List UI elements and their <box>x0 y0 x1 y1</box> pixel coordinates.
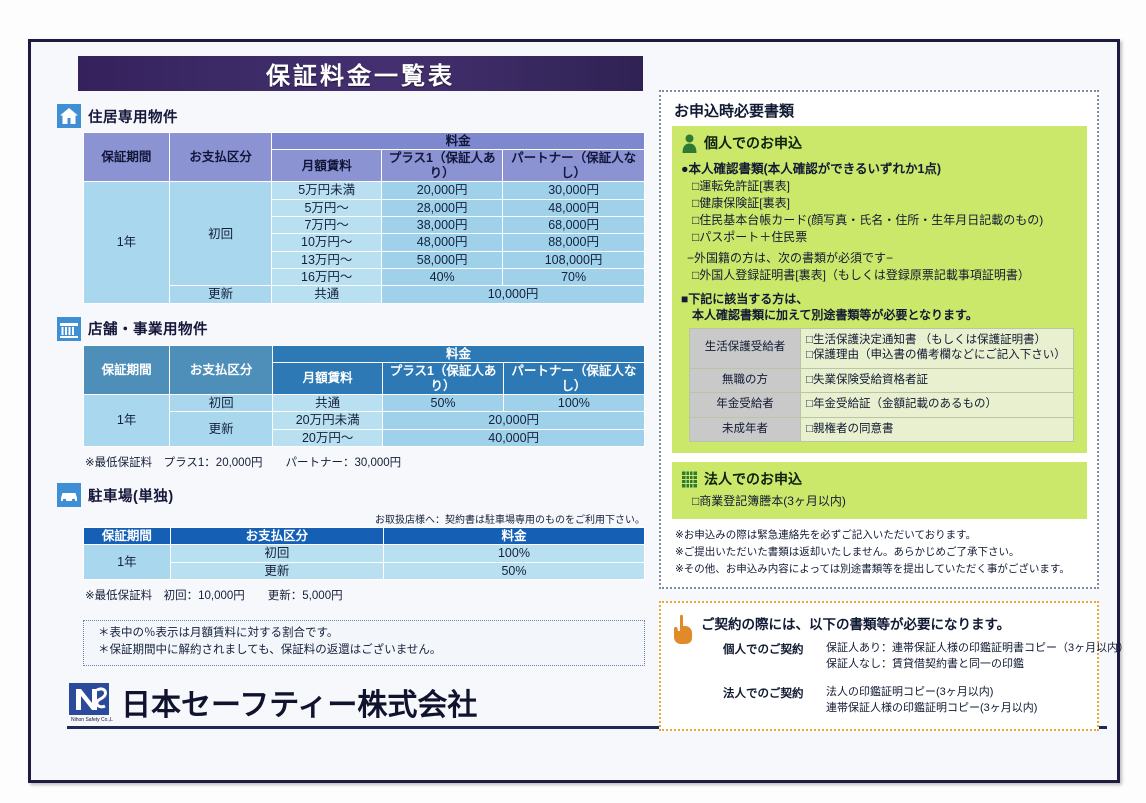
contract-documents-box: ご契約の際には、以下の書類等が必要になります。 個人でのご契約 保証人あり：連帯… <box>659 601 1099 732</box>
extra-documents-heading: ■下記に該当する方は、 本人確認書類に加えて別途書類等が必要となります。 <box>681 292 1078 323</box>
left-footnotes-box: ＊表中の％表示は月額賃料に対する割合です。 ＊保証期間中に解約されましても、保証… <box>83 620 645 666</box>
extra-heading-line2: 本人確認書類に加えて別途書類等が必要となります。 <box>692 308 1078 324</box>
check-alien-registration: □外国人登録証明書[裏表]（もしくは登録原票記載事項証明書） <box>692 268 1078 284</box>
company-logo: Nihon Safety Co.,Ltd 日本セーフティー株式会社 <box>67 680 645 724</box>
check-item: □保護理由（申込書の備考欄などにご記入下さい） <box>806 348 1068 364</box>
th-payment-type: お支払区分 <box>170 345 273 394</box>
right-column: お申込時必要書類 個人でのお申込 ●本人確認書類(本人確認ができるいずれか1点)… <box>659 90 1099 731</box>
cell-period-value: 1年 <box>84 182 170 304</box>
cell-items: □生活保護決定通知書 （もしくは保護証明書） □保護理由（申込書の備考欄などにご… <box>801 328 1074 368</box>
check-item: □親権者の同意書 <box>806 422 1068 438</box>
table-commercial: 保証期間 お支払区分 料金 月額賃料 プラス1（保証人あり） パートナー（保証人… <box>83 345 645 447</box>
cell-fee: 100% <box>383 545 644 562</box>
cell-items: □失業保険受給資格者証 <box>801 368 1074 393</box>
note-additional-docs: ※その他、お申込み内容によっては別途書類等を提出していただく事がございます。 <box>675 561 1087 578</box>
th-monthly-rent: 月額賃料 <box>273 363 383 395</box>
contract-value: 保証人あり：連帯保証人様の印鑑証明書コピー（3ヶ月以内） <box>826 641 1129 657</box>
house-icon <box>57 104 81 128</box>
page-title: 保証料金一覧表 <box>78 56 643 91</box>
section-title-parking: 駐車場(単独) <box>88 485 174 506</box>
cell-rent: 16万円～ <box>272 269 382 286</box>
contract-values: 法人の印鑑証明コピー(3ヶ月以内) 連帯保証人様の印鑑証明コピー(3ヶ月以内) <box>826 685 1037 717</box>
corporate-heading: 法人でのお申込 <box>704 469 802 489</box>
footnote-percent: ＊表中の％表示は月額賃料に対する割合です。 <box>98 625 638 642</box>
cell-first-time-label: 初回 <box>170 394 273 411</box>
cell-plus1: 50% <box>383 394 503 411</box>
cell-category: 未成年者 <box>690 417 801 442</box>
grid-building-icon <box>681 470 698 489</box>
table-residential: 保証期間 お支払区分 料金 月額賃料 プラス1（保証人あり） パートナー（保証人… <box>83 132 645 304</box>
cell-renewal-label: 更新 <box>169 286 271 303</box>
check-item: □年金受給証（金額記載のあるもの） <box>806 397 1068 413</box>
cell-partner: 68,000円 <box>503 216 645 233</box>
table-row: 保証期間 お支払区分 料金 <box>84 345 645 362</box>
th-plus1: プラス1（保証人あり） <box>383 363 503 395</box>
individual-application-panel: 個人でのお申込 ●本人確認書類(本人確認ができるいずれか1点) □運転免許証[裏… <box>672 126 1087 453</box>
cell-partner: 88,000円 <box>503 234 645 251</box>
cell-category: 年金受給者 <box>690 393 801 418</box>
cell-fee: 50% <box>383 562 644 579</box>
th-period: 保証期間 <box>84 528 171 545</box>
check-drivers-license: □運転免許証[裏表] <box>692 179 1078 195</box>
cell-partner: 70% <box>503 269 645 286</box>
th-plus1: プラス1（保証人あり） <box>382 150 503 182</box>
section-title-commercial: 店舗・事業用物件 <box>88 318 208 339</box>
table-row: 年金受給者 □年金受給証（金額記載のあるもの） <box>690 393 1074 418</box>
corporate-application-panel: 法人でのお申込 □商業登記簿謄本(3ヶ月以内) <box>672 462 1087 519</box>
note-commercial-minimum: ※最低保証料 プラス1：20,000円 パートナー：30,000円 <box>85 454 645 470</box>
dealer-note: お取扱店様へ：契約書は駐車場専用のものをご利用下さい。 <box>83 511 645 526</box>
contract-row-corporate: 法人でのご契約 法人の印鑑証明コピー(3ヶ月以内) 連帯保証人様の印鑑証明コピー… <box>723 685 1129 717</box>
contract-values: 保証人あり：連帯保証人様の印鑑証明書コピー（3ヶ月以内） 保証人なし：賃貸借契約… <box>826 641 1129 673</box>
contract-row-individual: 個人でのご契約 保証人あり：連帯保証人様の印鑑証明書コピー（3ヶ月以内） 保証人… <box>723 641 1129 673</box>
check-item: □失業保険受給資格者証 <box>806 373 1068 389</box>
pointing-hand-icon <box>671 613 695 645</box>
cell-first-time-label: 初回 <box>169 182 271 286</box>
cell-plus1: 58,000円 <box>382 251 503 268</box>
contract-value: 保証人なし：賃貸借契約書と同一の印鑑 <box>826 657 1129 673</box>
required-documents-title: お申込時必要書類 <box>674 100 1087 121</box>
section-header-residential: 住居専用物件 <box>57 104 645 128</box>
cell-partner: 48,000円 <box>503 199 645 216</box>
section-header-commercial: 店舗・事業用物件 <box>57 317 645 341</box>
cell-rent: 20万円未満 <box>273 412 383 429</box>
contract-label: 個人でのご契約 <box>723 641 819 673</box>
cell-partner: 30,000円 <box>503 182 645 199</box>
th-fee: 料金 <box>383 528 644 545</box>
cell-plus1: 40% <box>382 269 503 286</box>
th-fee-group: 料金 <box>272 133 645 150</box>
table-row: 1年 初回 100% <box>84 545 645 562</box>
table-row: 保証期間 お支払区分 料金 <box>84 133 645 150</box>
document-frame: 保証料金一覧表 住居専用物件 保証期間 お支払区分 料金 月額賃料 <box>28 39 1120 783</box>
th-period: 保証期間 <box>84 133 170 182</box>
cell-partner: 100% <box>503 394 644 411</box>
table-row: 未成年者 □親権者の同意書 <box>690 417 1074 442</box>
table-row: 無職の方 □失業保険受給資格者証 <box>690 368 1074 393</box>
table-row: 1年 初回 共通 50% 100% <box>84 394 645 411</box>
check-item: □生活保護決定通知書 （もしくは保護証明書） <box>806 333 1068 349</box>
required-documents-notes: ※お申込みの際は緊急連絡先を必ずご記入いただいております。 ※ご提出いただいた書… <box>675 527 1087 577</box>
section-title-residential: 住居専用物件 <box>88 106 178 127</box>
cell-renewal-label: 更新 <box>170 412 273 447</box>
table-row: 生活保護受給者 □生活保護決定通知書 （もしくは保護証明書） □保護理由（申込書… <box>690 328 1074 368</box>
cell-rent: 20万円～ <box>273 429 383 446</box>
cell-plus1: 48,000円 <box>382 234 503 251</box>
individual-heading: 個人でのお申込 <box>704 133 802 153</box>
required-documents-box: お申込時必要書類 個人でのお申込 ●本人確認書類(本人確認ができるいずれか1点)… <box>659 90 1099 589</box>
person-icon <box>681 134 698 153</box>
cell-partner: 108,000円 <box>503 251 645 268</box>
check-commercial-registry: □商業登記簿謄本(3ヶ月以内) <box>692 494 1078 510</box>
identity-documents-heading: ●本人確認書類(本人確認ができるいずれか1点) <box>681 158 1078 177</box>
cell-rent: 5万円未満 <box>272 182 382 199</box>
footnote-refund: ＊保証期間中に解約されましても、保証料の返還はございません。 <box>98 642 638 659</box>
contract-value: 連帯保証人様の印鑑証明コピー(3ヶ月以内) <box>826 701 1037 717</box>
cell-category: 無職の方 <box>690 368 801 393</box>
cell-rent: 共通 <box>273 394 383 411</box>
ns-logo-icon: Nihon Safety Co.,Ltd <box>67 681 113 723</box>
table-parking: 保証期間 お支払区分 料金 1年 初回 100% 更新 50% <box>83 527 645 580</box>
cell-renewal-fee: 10,000円 <box>382 286 645 303</box>
cell-type: 初回 <box>170 545 383 562</box>
th-payment-type: お支払区分 <box>170 528 383 545</box>
document-page: 保証料金一覧表 住居専用物件 保証期間 お支払区分 料金 月額賃料 <box>0 0 1146 803</box>
section-header-parking: 駐車場(単独) <box>57 483 645 507</box>
table-row: 1年 初回 5万円未満 20,000円 30,000円 <box>84 182 645 199</box>
extra-documents-table: 生活保護受給者 □生活保護決定通知書 （もしくは保護証明書） □保護理由（申込書… <box>689 328 1074 443</box>
building-icon <box>57 317 81 341</box>
th-payment-type: お支払区分 <box>169 133 271 182</box>
contract-value: 法人の印鑑証明コピー(3ヶ月以内) <box>826 685 1037 701</box>
spacer <box>701 676 1129 685</box>
individual-heading-row: 個人でのお申込 <box>681 133 1078 153</box>
check-health-insurance: □健康保険証[裏表] <box>692 196 1078 212</box>
th-monthly-rent: 月額賃料 <box>272 150 382 182</box>
th-period: 保証期間 <box>84 345 170 394</box>
car-icon <box>57 483 81 507</box>
left-column: 保証料金一覧表 住居専用物件 保証期間 お支払区分 料金 月額賃料 <box>45 50 645 729</box>
corporate-heading-row: 法人でのお申込 <box>681 469 1078 489</box>
check-passport: □パスポート＋住民票 <box>692 230 1078 246</box>
contract-label: 法人でのご契約 <box>723 685 819 717</box>
extra-heading-line1: ■下記に該当する方は、 <box>681 292 808 306</box>
check-resident-card: □住民基本台帳カード(顔写真・氏名・住所・生年月日記載のもの) <box>692 213 1078 229</box>
th-partner: パートナー（保証人なし） <box>503 363 644 395</box>
cell-plus1: 38,000円 <box>382 216 503 233</box>
cell-items: □親権者の同意書 <box>801 417 1074 442</box>
cell-category: 生活保護受給者 <box>690 328 801 368</box>
note-no-return: ※ご提出いただいた書類は返却いたしません。あらかじめご了承下さい。 <box>675 544 1087 561</box>
cell-plus1: 20,000円 <box>382 182 503 199</box>
table-row: 保証期間 お支払区分 料金 <box>84 528 645 545</box>
cell-rent: 7万円～ <box>272 216 382 233</box>
cell-period-value: 1年 <box>84 394 170 446</box>
note-parking-minimum: ※最低保証料 初回：10,000円 更新：5,000円 <box>85 587 645 603</box>
cell-items: □年金受給証（金額記載のあるもの） <box>801 393 1074 418</box>
th-fee-group: 料金 <box>273 345 645 362</box>
cell-rent: 5万円～ <box>272 199 382 216</box>
cell-fee: 20,000円 <box>383 412 645 429</box>
note-emergency-contact: ※お申込みの際は緊急連絡先を必ずご記入いただいております。 <box>675 527 1087 544</box>
cell-type: 更新 <box>170 562 383 579</box>
cell-fee: 40,000円 <box>383 429 645 446</box>
svg-text:Nihon Safety Co.,Ltd: Nihon Safety Co.,Ltd <box>71 717 113 723</box>
company-name: 日本セーフティー株式会社 <box>121 680 477 724</box>
th-partner: パートナー（保証人なし） <box>503 150 645 182</box>
foreign-national-note: −外国籍の方は、次の書類が必須です− <box>687 249 1078 266</box>
cell-renewal-rent: 共通 <box>272 286 382 303</box>
cell-rent: 10万円～ <box>272 234 382 251</box>
cell-period-value: 1年 <box>84 545 171 580</box>
cell-rent: 13万円～ <box>272 251 382 268</box>
cell-plus1: 28,000円 <box>382 199 503 216</box>
contract-documents-title: ご契約の際には、以下の書類等が必要になります。 <box>701 613 1129 633</box>
